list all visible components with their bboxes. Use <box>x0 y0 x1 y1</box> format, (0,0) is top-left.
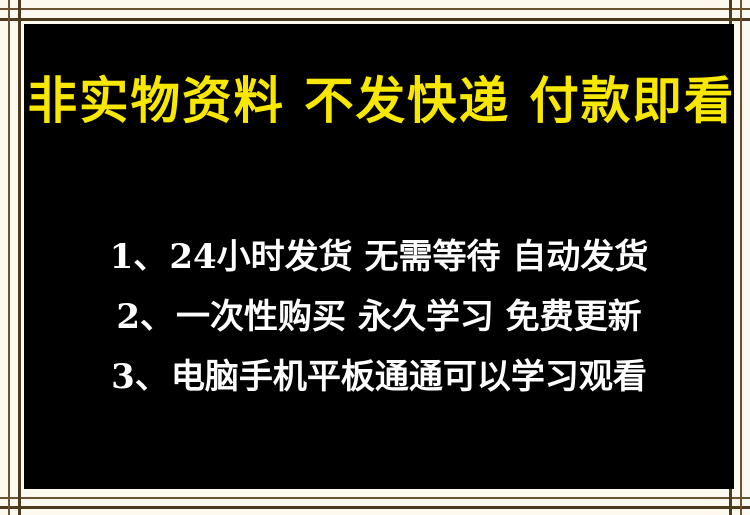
frame-rule-outer-left <box>8 0 10 515</box>
headline-text: 非实物资料 不发快递 付款即看 <box>28 76 731 126</box>
frame-rule-outer-bottom <box>0 497 750 499</box>
body-line-2-text: 一次性购买 永久学习 免费更新 <box>176 297 642 337</box>
body-line-3-text: 电脑手机平板通通可以学习观看 <box>171 357 647 397</box>
body-line-3-index: 3、 <box>111 357 169 397</box>
body-line-2: 2、一次性购买 永久学习 免费更新 <box>24 300 734 334</box>
promo-banner: 非实物资料 不发快递 付款即看 1、24小时发货 无需等待 自动发货 2、一次性… <box>0 0 750 515</box>
frame-rule-inner-bottom <box>0 506 750 509</box>
frame-rule-outer-top <box>0 8 750 10</box>
body-line-1-index: 1、 <box>110 237 168 277</box>
frame-rule-outer-right <box>740 0 742 515</box>
body-line-1-text: 24小时发货 无需等待 自动发货 <box>169 237 648 277</box>
frame-rule-inner-left <box>18 0 21 515</box>
body-line-1: 1、24小时发货 无需等待 自动发货 <box>24 240 734 274</box>
body-line-2-index: 2、 <box>116 297 174 337</box>
body-line-3: 3、电脑手机平板通通可以学习观看 <box>24 360 734 394</box>
frame-rule-inner-top <box>0 18 750 21</box>
content-panel: 非实物资料 不发快递 付款即看 1、24小时发货 无需等待 自动发货 2、一次性… <box>24 24 734 489</box>
body-line-list: 1、24小时发货 无需等待 自动发货 2、一次性购买 永久学习 免费更新 3、电… <box>24 240 734 394</box>
